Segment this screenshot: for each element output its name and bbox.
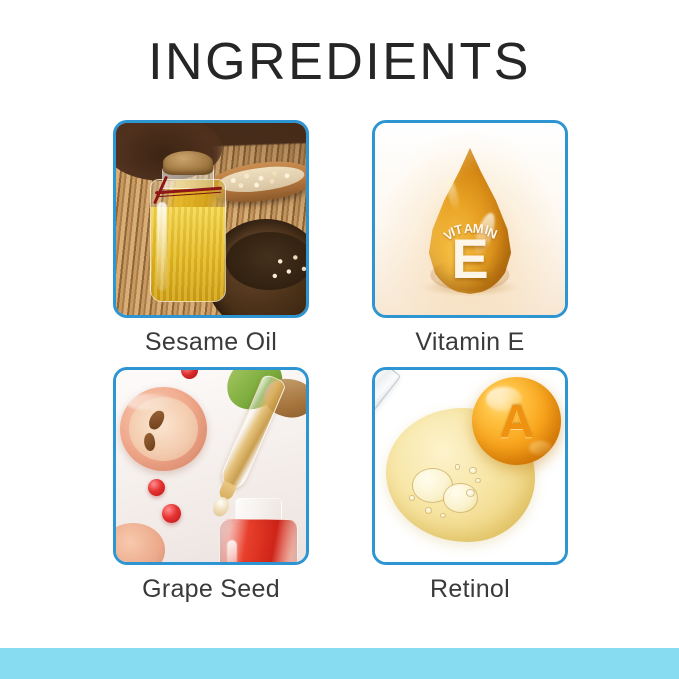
- halved-grape-icon: [120, 387, 207, 471]
- cork-stopper-icon: [163, 151, 213, 174]
- ingredient-image-frame-grape-seed: [113, 367, 309, 565]
- sesame-oil-illustration: [116, 123, 306, 315]
- ingredient-card-grape-seed[interactable]: Grape Seed: [113, 367, 309, 604]
- infographic-page: INGREDIENTS: [0, 0, 679, 679]
- vitamin-letter-a: A: [472, 398, 561, 444]
- serum-bubble-small: [466, 489, 475, 497]
- red-berry: [162, 504, 181, 523]
- serum-bubble-small: [455, 464, 461, 469]
- vitamin-a-sphere-icon: A: [472, 377, 561, 465]
- vitamin-letter-e: E: [425, 231, 514, 287]
- serum-bubble-small: [469, 467, 476, 474]
- bottom-accent-bar: [0, 648, 679, 679]
- ingredient-image-frame-retinol: A: [372, 367, 568, 565]
- serum-bubble: [443, 483, 479, 513]
- ingredient-image-frame-sesame-oil: [113, 120, 309, 318]
- page-title: INGREDIENTS: [0, 36, 679, 88]
- ingredient-image-frame-vitamin-e: VITAMIN E: [372, 120, 568, 318]
- bottle-highlight: [157, 202, 167, 291]
- serum-bubble-small: [409, 495, 415, 500]
- ingredient-label-grape-seed: Grape Seed: [113, 576, 309, 604]
- ingredient-card-vitamin-e[interactable]: VITAMIN E Vitamin E: [372, 120, 568, 357]
- red-bottle-body: [219, 519, 299, 561]
- ingredient-label-sesame-oil: Sesame Oil: [113, 329, 309, 357]
- oil-drop-icon: VITAMIN E: [425, 148, 514, 294]
- grape-seed-illustration: [116, 370, 306, 562]
- retinol-illustration: A: [375, 370, 565, 562]
- ingredient-card-sesame-oil[interactable]: Sesame Oil: [113, 120, 309, 357]
- red-bottle-highlight: [227, 540, 236, 561]
- red-oil-bottle-icon: [219, 496, 299, 561]
- ingredient-card-retinol[interactable]: A Retinol: [372, 367, 568, 604]
- red-twine: [152, 178, 225, 204]
- serum-bubble-small: [425, 507, 432, 514]
- vitamin-e-illustration: VITAMIN E: [375, 123, 565, 315]
- serum-bubble-small: [475, 478, 481, 483]
- ingredient-label-vitamin-e: Vitamin E: [372, 329, 568, 357]
- serum-bubble-small: [440, 513, 446, 518]
- ingredients-grid: Sesame Oil VITAMIN E: [113, 120, 568, 603]
- oil-bottle-icon: [150, 156, 226, 302]
- ingredient-label-retinol: Retinol: [372, 576, 568, 604]
